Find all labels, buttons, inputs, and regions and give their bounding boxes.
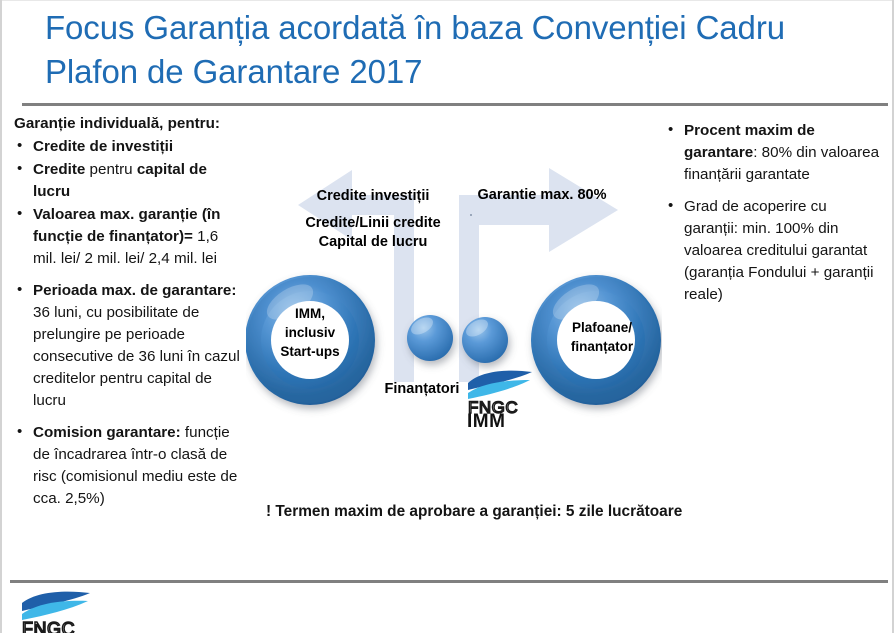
label-credite-linii-capital: Credite/Linii credite Capital de lucru — [285, 214, 461, 252]
stray-dot-mark — [470, 214, 472, 216]
list-item: Perioada max. de garantare: 36 luni, cu … — [14, 280, 246, 412]
right-bullet-list: Procent maxim de garantare: 80% din valo… — [665, 120, 883, 306]
label-garantie-max: Garantie max. 80% — [462, 187, 622, 203]
list-item: Procent maxim de garantare: 80% din valo… — [665, 120, 883, 186]
frame-top-edge — [0, 0, 894, 1]
bullet-plain-text: Grad de acoperire cu garanții: min. 100%… — [684, 198, 874, 303]
frame-left-edge — [0, 0, 2, 633]
left-column-lead: Garanție individuală, pentru: — [14, 113, 246, 135]
bullet-bold-text: Credite — [33, 161, 85, 178]
label-credite-investitii: Credite investiții — [300, 188, 446, 204]
torus-left-label: IMM, inclusiv Start-ups — [272, 304, 348, 361]
slide-title: Focus Garanția acordată în baza Convenți… — [45, 6, 855, 94]
list-item: Grad de acoperire cu garanții: min. 100%… — [665, 196, 883, 306]
bullet-bold-text: Perioada max. de garantare: — [33, 282, 236, 299]
deadline-note: ! Termen maxim de aprobare a garanției: … — [266, 503, 682, 521]
list-item: Comision garantare: funcție de încadrare… — [14, 422, 246, 510]
footer-divider — [10, 580, 888, 583]
list-item: Credite pentru capital de lucru — [14, 159, 246, 203]
logo-imm-text: IMM — [467, 411, 505, 428]
bullet-bold-text: Credite de investiții — [33, 138, 173, 155]
label-finantatori: Finanțatori — [372, 381, 472, 397]
logo-fngc-text: FNGC — [22, 619, 75, 633]
bullet-bold-text: Comision garantare: — [33, 424, 181, 441]
left-bullet-list: Credite de investiții Credite pentru cap… — [14, 136, 246, 510]
list-item: Valoarea max. garanție (în funcție de fi… — [14, 204, 246, 270]
header-divider — [22, 103, 888, 106]
torus-right-label: Plafoane/ finanțator — [557, 318, 647, 356]
right-content-column: Procent maxim de garantare: 80% din valo… — [665, 120, 883, 307]
list-item: Credite de investiții — [14, 136, 246, 158]
fngc-imm-logo-center: FNGC IMM — [466, 368, 536, 428]
bullet-plain-text: 36 luni, cu posibilitate de prelungire p… — [33, 304, 240, 409]
slide-canvas: Focus Garanția acordată în baza Convenți… — [0, 0, 894, 633]
left-content-column: Garanție individuală, pentru: Credite de… — [14, 113, 246, 511]
fngc-imm-logo-footer: FNGC IMM — [20, 589, 94, 633]
bullet-plain-text: pentru — [85, 161, 137, 178]
